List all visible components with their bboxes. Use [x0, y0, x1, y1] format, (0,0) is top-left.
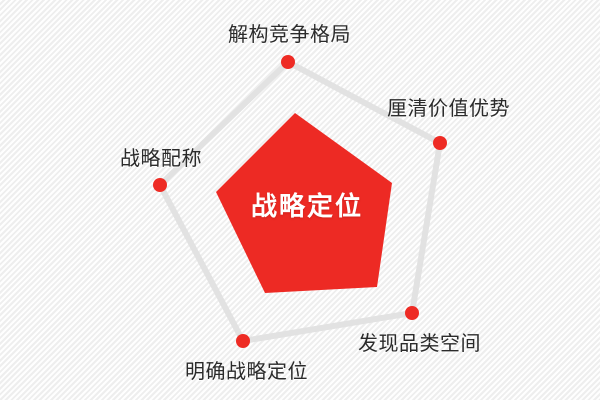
node-dot-lower-right[interactable]	[405, 306, 419, 320]
node-label-lower-right: 发现品类空间	[358, 334, 481, 354]
node-label-top: 解构竞争格局	[228, 25, 351, 45]
node-dot-top[interactable]	[281, 55, 295, 69]
node-dot-left[interactable]	[153, 178, 167, 192]
node-label-upper-right: 厘清价值优势	[387, 99, 510, 119]
node-label-left: 战略配称	[120, 149, 202, 169]
node-dot-bottom[interactable]	[236, 334, 250, 348]
diagram-canvas: 解构竞争格局 厘清价值优势 发现品类空间 明确战略定位 战略配称 战略定位	[0, 0, 600, 400]
node-dot-upper-right[interactable]	[433, 136, 447, 150]
node-label-bottom: 明确战略定位	[185, 362, 308, 382]
center-pentagon-label: 战略定位	[251, 193, 363, 219]
